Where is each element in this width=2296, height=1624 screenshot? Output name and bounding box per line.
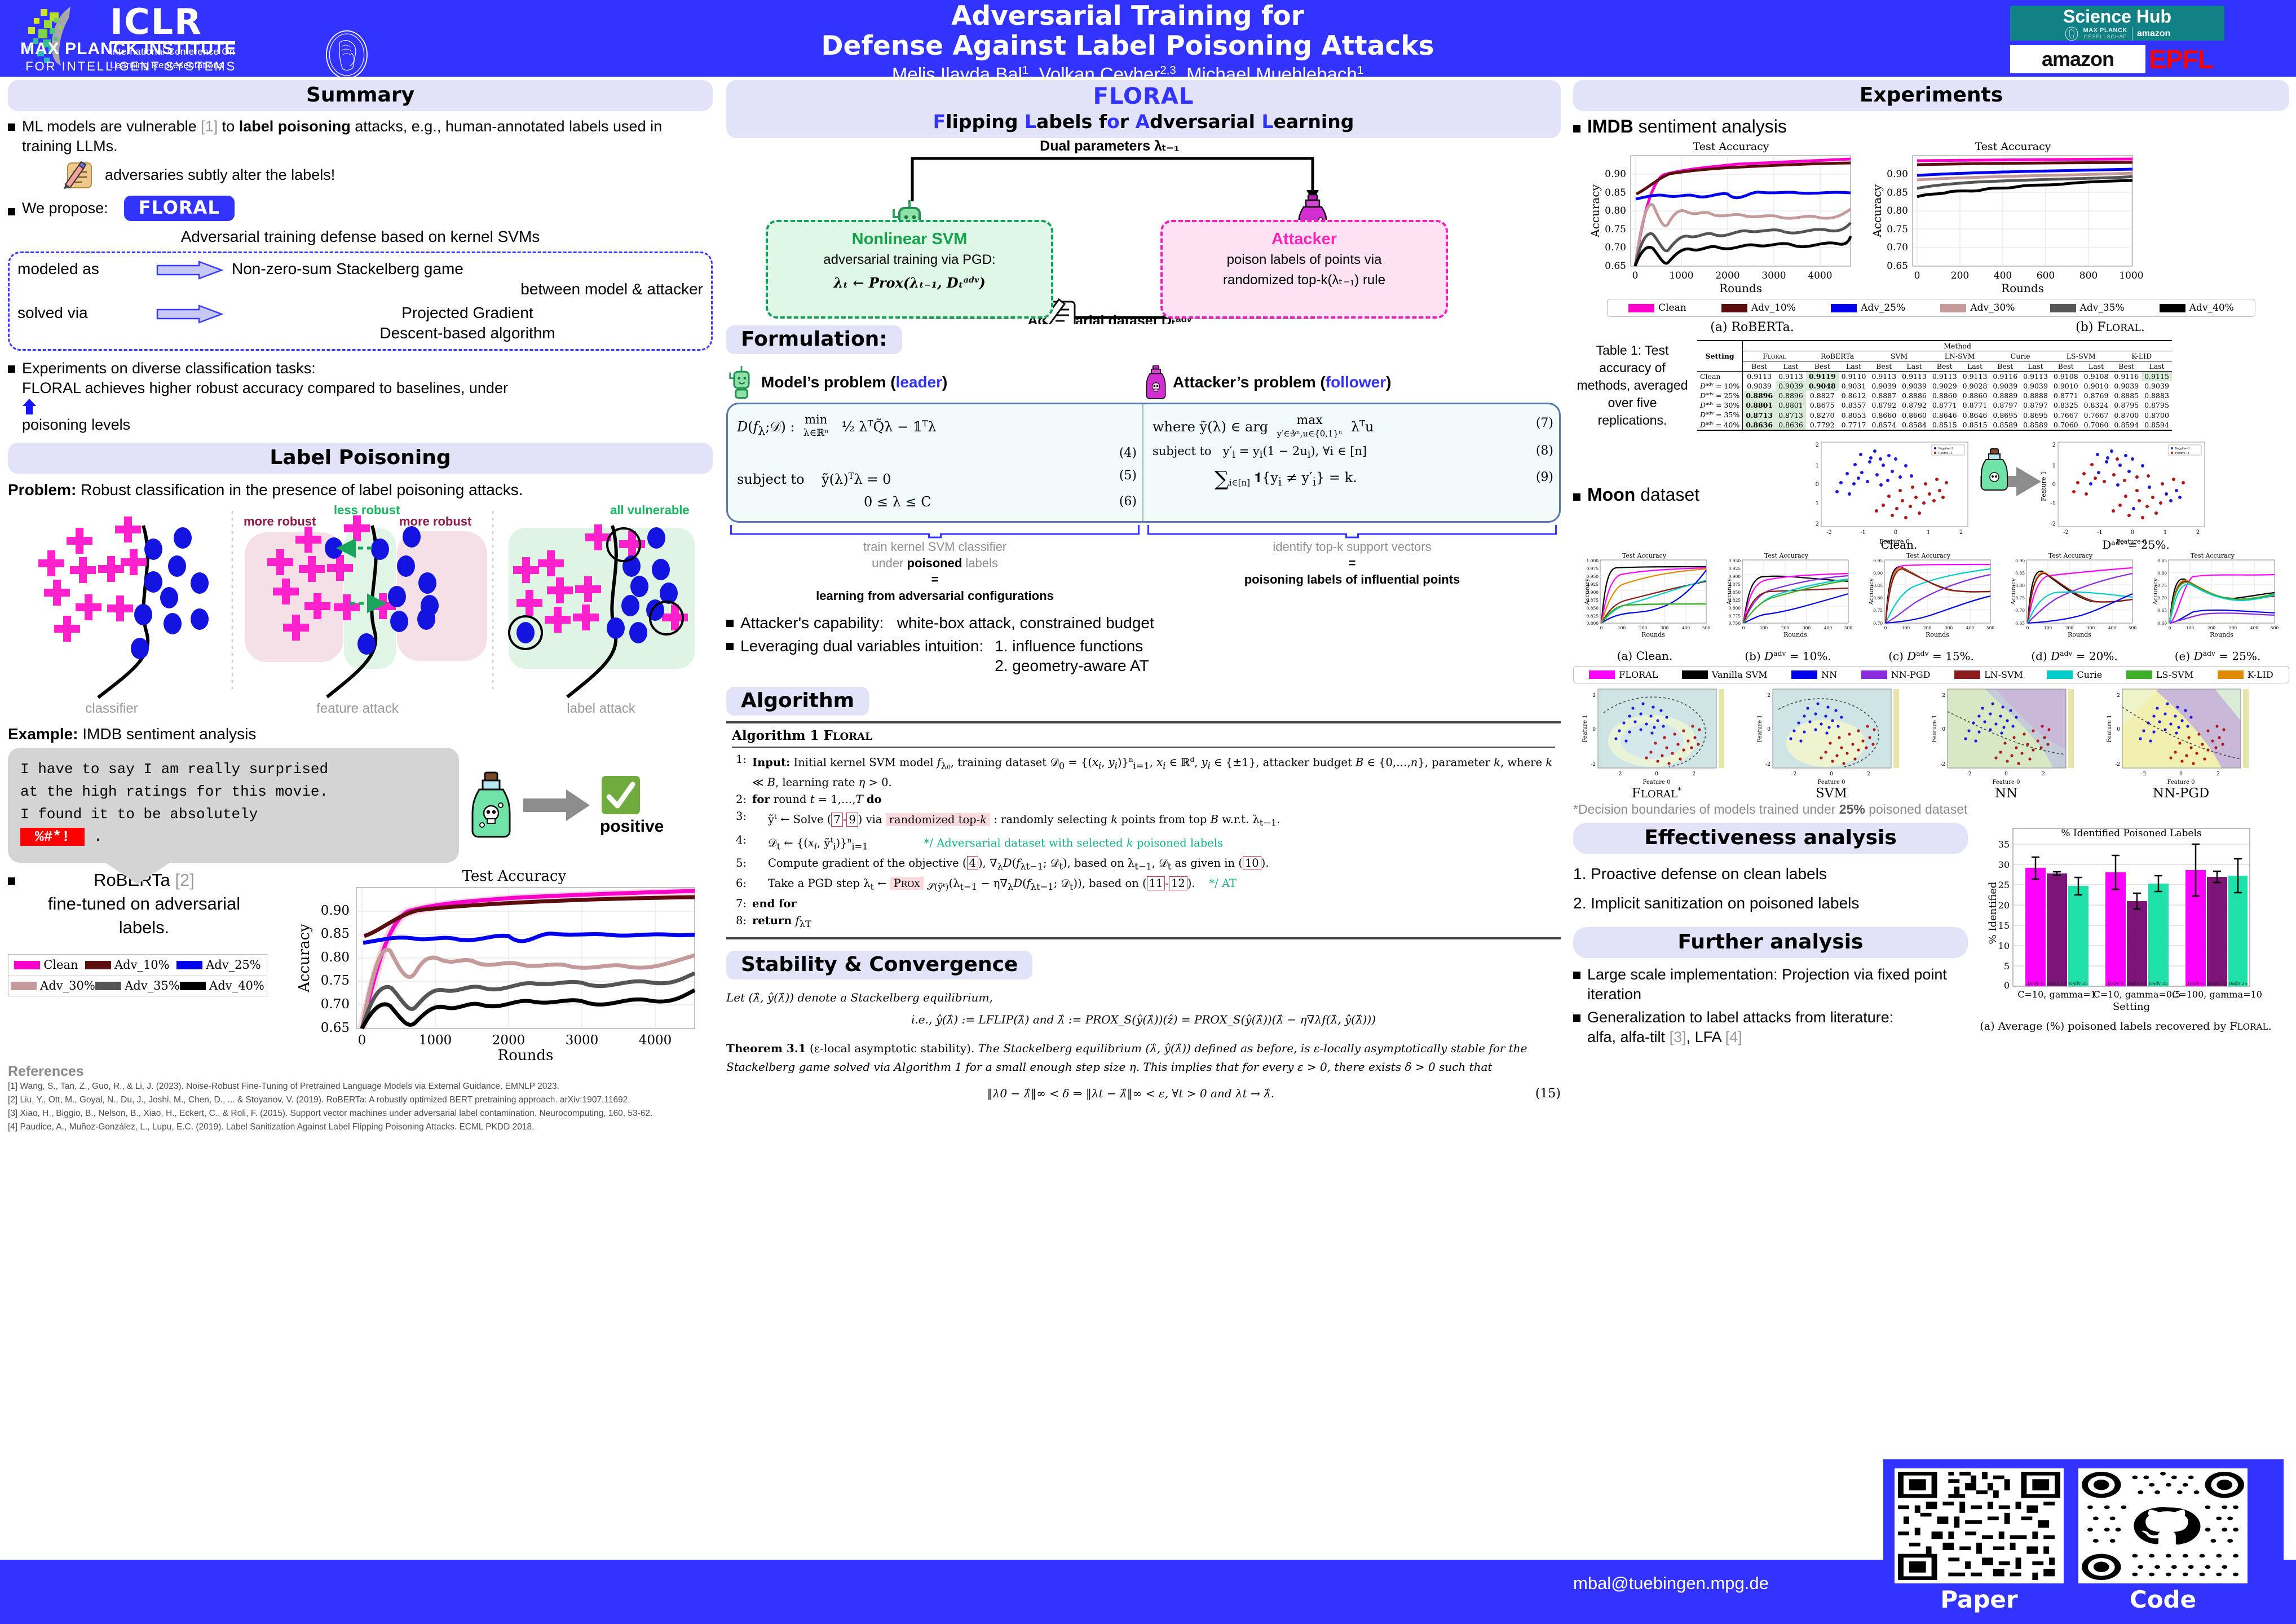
attacker-problem-header: Attacker’s problem (follower) — [1143, 365, 1561, 399]
right-arrow-icon — [156, 261, 223, 280]
sh-amazon-text: amazon — [2137, 29, 2171, 39]
svg-text:Feature 0: Feature 0 — [1818, 779, 1845, 785]
qr-panel: Paper — [1883, 1459, 2284, 1624]
imdb-rest: sentiment analysis — [1633, 116, 1787, 136]
svg-text:0: 0 — [1894, 529, 1897, 536]
attacker-node-body-2: randomized top-k(λₜ₋₁) rule — [1163, 271, 1446, 289]
svg-text:-2: -2 — [2142, 771, 2147, 777]
svg-text:4000: 4000 — [1808, 270, 1832, 281]
moon-clean-caption: Clean. — [1881, 538, 1918, 550]
summary-tagline: Adversarial training defense based on ke… — [8, 228, 713, 246]
mpi-wordmark: MAX PLANCK INSTITUTE FOR INTELLIGENT SYS… — [20, 39, 236, 74]
svg-text:20: 20 — [1998, 900, 2010, 911]
quote-line-2: at the high ratings for this movie. — [20, 780, 447, 803]
svg-text:% Identified: % Identified — [1987, 882, 1999, 945]
svg-text:0: 0 — [2131, 529, 2134, 536]
svg-text:label attack: label attack — [567, 701, 635, 716]
boundary-footnote-a: *Decision boundaries of models trained u… — [1573, 802, 1839, 817]
svg-text:Feature 1: Feature 1 — [1757, 715, 1763, 743]
svg-text:0: 0 — [2117, 727, 2120, 732]
dual-variables-bullet: Leveraging dual variables intuition: 1. … — [726, 636, 1561, 676]
qr-paper-wrap[interactable]: Paper — [1895, 1468, 2064, 1624]
svg-text:0.90: 0.90 — [1605, 169, 1626, 180]
svg-text:classifier: classifier — [85, 701, 138, 716]
svg-text:Feature 1: Feature 1 — [2040, 471, 2047, 501]
roberta-bullet-2: fine-tuned on adversarial labels. — [48, 894, 240, 937]
svg-text:Negative -1: Negative -1 — [1939, 447, 1953, 451]
svg-text:SVM: SVM — [1816, 786, 1847, 800]
svg-text:0.90: 0.90 — [1887, 169, 1908, 180]
svg-text:0: 0 — [1592, 727, 1596, 732]
solved-value-2: Descent-based algorithm — [379, 324, 555, 342]
sh-maxplanck-text: MAX PLANCKGESELLSCHAF — [2083, 28, 2127, 40]
svg-text:0.65: 0.65 — [321, 1021, 350, 1035]
moon-plot-25: Test Accuracy 0.850.80 0.750.70 0.650.60… — [2153, 552, 2279, 638]
modeled-value-2: between model & attacker — [232, 279, 703, 299]
modeled-value-1: Non-zero-sum Stackelberg game — [232, 260, 463, 277]
poison-bottle-icon — [1143, 365, 1168, 399]
moon-subcap-e: (e) Dadv = 25%. — [2146, 649, 2289, 663]
boundary-floral: 20-2 -202 Feature 0 Feature 1 FLORAL* — [1582, 689, 1724, 800]
svg-text:0: 0 — [1655, 771, 1658, 777]
svg-text:0: 0 — [1914, 270, 1920, 281]
equation-6: 0 ≤ λ ≤ C(6) — [737, 491, 1137, 513]
svg-text:0.90: 0.90 — [2015, 558, 2025, 563]
svg-text:-2: -2 — [1591, 762, 1596, 767]
svg-text:2: 2 — [1692, 771, 1695, 777]
svg-text:2000: 2000 — [1715, 270, 1739, 281]
bullet-square-icon — [8, 208, 15, 215]
attacker-node: Attacker poison labels of points via ran… — [1160, 220, 1448, 319]
svg-text:400: 400 — [1824, 625, 1833, 630]
svg-text:Rounds: Rounds — [1641, 631, 1665, 638]
svg-text:0.75: 0.75 — [1887, 224, 1908, 235]
svg-text:3000: 3000 — [566, 1033, 599, 1048]
svg-text:2: 2 — [1867, 771, 1870, 777]
algorithm-line: 7:end for — [732, 895, 1555, 912]
row-setting: Dadv = 40% — [1697, 420, 1743, 430]
moon-scatter-clean: Negative -1 Positive +1 21 0-1-2 -2-1 01… — [1816, 442, 1968, 545]
moon-subcap-a: (a) Clean. — [1573, 649, 1716, 663]
boundary-nn-pgd: 20-2 -202 Feature 0 Feature 1 NN-PGD — [2107, 689, 2249, 800]
poison-bottle-icon — [468, 771, 514, 839]
svg-text:400: 400 — [1966, 625, 1975, 630]
svg-text:0.775: 0.775 — [1729, 614, 1741, 619]
svg-text:Feature 0: Feature 0 — [2167, 779, 2195, 785]
svg-text:Feature 1: Feature 1 — [1932, 715, 1938, 743]
svg-text:300: 300 — [1661, 625, 1669, 630]
svg-text:Test Accuracy: Test Accuracy — [2191, 552, 2235, 559]
panel-label-attack: all vulnerable label attack — [509, 503, 695, 716]
svg-text:Accuracy: Accuracy — [2011, 578, 2017, 605]
left-column: Summary ML models are vulnerable [1] to … — [8, 80, 713, 1134]
svg-text:Feature 1: Feature 1 — [2107, 715, 2113, 743]
svg-text:100: 100 — [1618, 625, 1626, 630]
boundary-footnote-c: poisoned dataset — [1865, 802, 1968, 817]
page-title-line-2: Defense Against Label Poisoning Attacks — [592, 31, 1663, 61]
problem-label: Problem: — [8, 481, 76, 498]
svg-text:0.850: 0.850 — [1587, 606, 1599, 611]
section-heading-algorithm: Algorithm — [726, 687, 869, 716]
svg-text:C=10, gamma=0.5: C=10, gamma=0.5 — [2094, 989, 2181, 1000]
svg-text:1000: 1000 — [419, 1033, 452, 1048]
middle-column: FLORAL Flipping Labels for Adversarial L… — [726, 80, 1561, 1103]
modeled-as-label: modeled as — [17, 259, 147, 279]
svg-text:Dadv 25: Dadv 25 — [2069, 981, 2088, 986]
svg-text:0.975: 0.975 — [1587, 566, 1599, 571]
table-1-results: Setting Method FLORAL RoBERTa SVM LN-SVM… — [1697, 340, 2172, 431]
robot-icon — [726, 366, 757, 399]
svg-text:200: 200 — [2065, 625, 2074, 630]
row-setting: Dadv = 30% — [1697, 400, 1743, 410]
iclr-logo: ICLR International Conference On Learnin… — [17, 5, 299, 73]
quote-line-1: I have to say I am really surprised — [20, 758, 447, 780]
svg-text:0: 0 — [1830, 771, 1833, 777]
dual-variables-item-1: 1. influence functions — [995, 637, 1143, 655]
svg-text:0.80: 0.80 — [1887, 205, 1908, 217]
moon-subcap-b: (b) Dadv = 10%. — [1716, 649, 1860, 663]
svg-text:0.95: 0.95 — [1873, 558, 1883, 563]
svg-text:more robust: more robust — [399, 514, 472, 528]
floral-cycle-diagram: Dual parameters λₜ₋₁ Adversarial dataset… — [726, 138, 1561, 324]
svg-text:500: 500 — [1844, 625, 1853, 630]
theorem-paren: (ε-local asymptotic stability). — [810, 1042, 974, 1055]
method-header: FLORAL — [1743, 351, 1806, 361]
svg-text:Accuracy: Accuracy — [2153, 578, 2159, 605]
svg-text:2: 2 — [2196, 529, 2200, 536]
up-arrow-icon — [22, 398, 37, 415]
svg-text:Rounds: Rounds — [1926, 631, 1949, 638]
poison-bottle-icon — [1980, 449, 2041, 496]
effectiveness-item: 2. Implicit sanitization on poisoned lab… — [1573, 889, 1968, 918]
svg-text:less robust: less robust — [334, 503, 400, 517]
svg-text:600: 600 — [2037, 270, 2055, 281]
svg-text:Accuracy: Accuracy — [1588, 184, 1602, 237]
svg-text:0: 0 — [2004, 980, 2010, 991]
moon-subcap-d: (d) Dadv = 20%. — [2003, 649, 2146, 663]
right-column: Experiments IMDB sentiment analysis Test… — [1573, 80, 2289, 1051]
svg-text:-1: -1 — [2097, 529, 2103, 536]
floral-acronym: FLORAL — [726, 83, 1561, 109]
model-problem-label: Model’s problem (leader) — [761, 373, 947, 391]
bullet-square-icon — [1573, 972, 1580, 979]
svg-text:2: 2 — [1767, 693, 1770, 699]
svg-text:200: 200 — [1639, 625, 1648, 630]
svg-text:300: 300 — [1803, 625, 1811, 630]
svg-text:100: 100 — [2186, 625, 2195, 630]
svg-text:0: 0 — [2169, 625, 2171, 630]
floral-expansion: Flipping Labels for Adversarial Learning — [726, 111, 1561, 133]
svg-text:-2: -2 — [1816, 521, 1819, 527]
svg-text:0.60: 0.60 — [2157, 621, 2167, 626]
svg-text:1000: 1000 — [1669, 270, 1693, 281]
svg-text:0.85: 0.85 — [321, 926, 350, 941]
decision-boundary-row: 20-2 -202 Feature 0 Feature 1 FLORAL* 20… — [1573, 687, 2289, 800]
svg-text:2: 2 — [1959, 529, 1963, 536]
sentiment-label: positive — [600, 817, 664, 836]
svg-text:0: 0 — [1767, 727, 1770, 732]
svg-text:-2: -2 — [2050, 521, 2056, 527]
attacker-node-title: Attacker — [1163, 230, 1446, 249]
svg-text:Rounds: Rounds — [1783, 631, 1807, 638]
qr-code-code[interactable] — [2078, 1468, 2248, 1583]
svg-text:2000: 2000 — [492, 1033, 526, 1048]
imdb-label: IMDB — [1587, 116, 1633, 136]
svg-text:0.70: 0.70 — [1887, 242, 1908, 253]
bullet-square-icon — [8, 877, 15, 885]
panel-feature-attack: more robust less robust more robust feat… — [244, 503, 487, 716]
section-heading-further: Further analysis — [1573, 927, 1968, 958]
table-row: Clean 0.91130.9113 0.91190.9110 0.91130.… — [1697, 372, 2172, 382]
quote-period: . — [94, 828, 103, 845]
svg-text:0.70: 0.70 — [1605, 242, 1626, 253]
boundary-nn: 20-2 -202 Feature 0 Feature 1 NN — [1932, 689, 2074, 800]
attacker-problem-label: Attacker’s problem (follower) — [1173, 373, 1391, 391]
moon-subcaptions-row: (a) Clean. (b) Dadv = 10%. (c) Dadv = 15… — [1573, 649, 2289, 663]
svg-text:Dadv 10: Dadv 10 — [2207, 981, 2227, 986]
row-setting: Dadv = 10% — [1697, 381, 1743, 391]
approach-modeled-row: modeled as Non-zero-sum Stackelberg game… — [17, 259, 703, 299]
algorithm-line: 1:Input: Initial kernel SVM model fλ₀, t… — [732, 751, 1555, 791]
reference-item: [1] Wang, S., Tan, Z., Guo, R., & Li, J.… — [8, 1080, 713, 1093]
svm-node-equation: λₜ ← Prox(λₜ₋₁, Dₜadv) — [768, 271, 1051, 292]
svg-text:2: 2 — [2117, 693, 2120, 699]
chart-imdb-floral: Test Accuracy 0.650.70 0.750.80 — [1866, 140, 2143, 298]
moon-plot-clean: Test Accuracy 1.0000.975 0.9500.925 0.90… — [1584, 552, 1710, 638]
poster-header: ICLR International Conference On Learnin… — [0, 0, 2296, 77]
svg-text:Dadv 10: Dadv 10 — [2127, 981, 2147, 986]
bullet-square-icon — [1573, 125, 1580, 133]
svg-text:Test Accuracy: Test Accuracy — [1622, 552, 1667, 559]
approach-box: modeled as Non-zero-sum Stackelberg game… — [8, 251, 713, 351]
qr-paper-code[interactable] — [1895, 1468, 2064, 1583]
qr-code-wrap[interactable]: Code — [2078, 1468, 2248, 1624]
qr-paper-icon — [1898, 1472, 2060, 1580]
svg-text:-2: -2 — [1765, 762, 1770, 767]
svg-text:Accuracy: Accuracy — [1870, 184, 1884, 237]
boundary-footnote: *Decision boundaries of models trained u… — [1573, 802, 2289, 817]
svg-text:-2: -2 — [1967, 771, 1972, 777]
floral-badge: FLORAL — [124, 196, 235, 221]
svg-text:C=10, gamma=1: C=10, gamma=1 — [2017, 989, 2096, 1000]
svm-node-title: Nonlinear SVM — [768, 230, 1051, 249]
example-label: Example: — [8, 725, 78, 743]
effectiveness-list: 1. Proactive defense on clean labels 2. … — [1573, 859, 1968, 918]
svg-text:Dadv 10: Dadv 10 — [2047, 981, 2067, 986]
svg-text:0: 0 — [1632, 270, 1639, 281]
algorithm-title: Algorithm 1 FLORAL — [732, 728, 1555, 748]
svg-text:10: 10 — [1998, 941, 2010, 951]
equation-5: subject to ỹ(λ)Tλ = 0(5) — [737, 465, 1137, 491]
moon-label: Moon — [1587, 484, 1635, 505]
svg-text:0: 0 — [1816, 482, 1819, 488]
chart-identified-poisoned-labels: % Identified Poisoned Labels — [1973, 823, 2267, 1026]
moon-subcap-c: (c) Dadv = 15%. — [1860, 649, 2003, 663]
max-planck-seal-small-icon — [2064, 27, 2079, 41]
grey-arrow-icon — [523, 788, 591, 822]
svg-text:300: 300 — [2087, 625, 2095, 630]
further-bullet-1-text: Large scale implementation: Projection v… — [1587, 965, 1968, 1004]
svg-text:Feature 0: Feature 0 — [1993, 779, 2020, 785]
svg-text:100: 100 — [2044, 625, 2052, 630]
equation-4: D(fλ;𝒟) : minλ∈ℝⁿ ½ λTQ̃λ − 𝟙Tλ — [737, 412, 1137, 442]
svg-text:500: 500 — [2129, 625, 2137, 630]
summary-note-text: adversaries subtly alter the labels! — [105, 166, 335, 184]
science-hub-title: Science Hub — [2010, 6, 2224, 26]
formulation-equations-panel: D(fλ;𝒟) : minλ∈ℝⁿ ½ λTQ̃λ − 𝟙Tλ (4) subj… — [726, 403, 1561, 523]
solved-value-1: Projected Gradient — [401, 304, 533, 321]
svg-text:feature attack: feature attack — [316, 701, 399, 716]
svg-text:Test Accuracy: Test Accuracy — [1764, 552, 1809, 559]
sponsor-logos: amazon EPFL — [2010, 44, 2213, 74]
svg-text:FLORAL*: FLORAL* — [1632, 786, 1681, 800]
bullet-square-icon — [8, 123, 15, 131]
svg-text:1: 1 — [1816, 463, 1819, 469]
svg-text:1: 1 — [1927, 529, 1930, 536]
attacker-capability-value: white-box attack, constrained budget — [897, 614, 1154, 632]
equation-7: where ỹ(λ) ∈ arg maxy′∈𝒴ⁿ,u∈{0,1}ⁿ λTu(7… — [1153, 412, 1553, 440]
bullet-square-icon — [1573, 493, 1580, 501]
summary-bullet-2: We propose: FLORAL — [8, 196, 713, 221]
section-heading-summary: Summary — [8, 80, 713, 111]
svg-text:200: 200 — [1781, 625, 1790, 630]
algorithm-box: Algorithm 1 FLORAL 1:Input: Initial kern… — [726, 721, 1561, 939]
epfl-logo: EPFL — [2149, 44, 2213, 74]
summary-propose-label: We propose: — [22, 198, 108, 218]
svg-text:15: 15 — [1998, 920, 2010, 931]
svg-text:0: 0 — [2004, 771, 2008, 777]
model-problem-header: Model’s problem (leader) — [726, 365, 1143, 399]
algorithm-line: 5:Compute gradient of the objective (4),… — [732, 855, 1555, 875]
algorithm-line: 8:return fλT — [732, 912, 1555, 933]
stability-line-1: Let (λ̂, ŷ(λ̂)) denote a Stackelberg equ… — [726, 988, 1561, 1007]
chart-imdb-roberta: Test Accuracy 0.650.70 0.750.80 — [1584, 140, 1861, 298]
brace-left-icon — [726, 524, 1143, 539]
example-line: Example: IMDB sentiment analysis — [8, 725, 713, 743]
green-check-icon — [600, 774, 642, 819]
qr-github-icon — [2082, 1472, 2244, 1580]
qr-code-label: Code — [2078, 1586, 2248, 1613]
qr-paper-label: Paper — [1895, 1586, 2064, 1613]
bar-chart-caption: (a) Average (%) poisoned labels recovere… — [1973, 1020, 2278, 1032]
svg-text:Dadv 25: Dadv 25 — [2228, 981, 2248, 986]
summary-bullet-3: Experiments on diverse classification ta… — [8, 359, 713, 435]
svg-text:300: 300 — [2229, 625, 2237, 630]
imdb-bullet: IMDB sentiment analysis — [1573, 117, 2289, 136]
references-list: [1] Wang, S., Tan, Z., Guo, R., & Li, J.… — [8, 1080, 713, 1134]
caption-right-1: identify top-k support vectors — [1273, 540, 1431, 554]
svg-text:% Identified Poisoned Labels: % Identified Poisoned Labels — [2061, 828, 2201, 839]
summary-bullet-3-line2: FLORAL achieves higher robust accuracy c… — [22, 379, 508, 396]
svg-text:30: 30 — [1998, 859, 2010, 870]
panel-classifier: classifier — [38, 517, 209, 716]
svg-text:2: 2 — [2216, 771, 2220, 777]
moon-plot-15: Test Accuracy 0.950.90 0.850.80 0.750.70… — [1869, 552, 1994, 638]
mpi-line-2: FOR INTELLIGENT SYSTEMS — [20, 59, 236, 74]
svg-text:-1: -1 — [2050, 501, 2056, 507]
svg-text:4000: 4000 — [639, 1033, 672, 1048]
table-row: Dadv = 25% 0.88960.8896 0.88270.8612 0.8… — [1697, 391, 2172, 400]
svg-text:1: 1 — [2052, 463, 2056, 469]
attacker-node-body-1: poison labels of points via — [1163, 251, 1446, 269]
table-row: Dadv = 30% 0.88010.8801 0.86750.8357 0.8… — [1697, 400, 2172, 410]
moon-scatter-pair: Negative -1 Positive +1 21 0-1-2 -2-1 01… — [1816, 440, 2278, 550]
algorithm-line: 2:for round t = 1,…,T do — [732, 791, 1555, 808]
svg-text:500: 500 — [1702, 625, 1711, 630]
svg-text:0.750: 0.750 — [1729, 621, 1741, 626]
svg-text:200: 200 — [2207, 625, 2216, 630]
svg-text:0: 0 — [1600, 625, 1603, 630]
svg-text:100: 100 — [1902, 625, 1910, 630]
boundary-svm: 20-2 -202 Feature 0 Feature 1 SVM — [1757, 689, 1899, 800]
svg-text:0.85: 0.85 — [1605, 187, 1626, 198]
table-row: Dadv = 40% 0.86360.8636 0.77920.7717 0.8… — [1697, 420, 2172, 430]
further-bullet-2-methods: alfa, alfa-tilt — [1587, 1029, 1670, 1045]
svg-text:0.800: 0.800 — [1587, 621, 1599, 626]
moon-plot-10: Test Accuracy 0.9500.925 0.9000.875 0.85… — [1727, 552, 1852, 638]
svg-text:Rounds: Rounds — [1719, 281, 1762, 295]
svg-text:Test Accuracy: Test Accuracy — [1693, 140, 1769, 153]
svg-text:2: 2 — [1816, 442, 1819, 448]
svg-text:-2: -2 — [1826, 529, 1832, 536]
svm-node-body: adversarial training via PGD: — [768, 251, 1051, 269]
svg-text:Feature 1: Feature 1 — [1582, 715, 1588, 743]
theorem-label: Theorem 3.1 — [726, 1042, 806, 1055]
svg-text:0.80: 0.80 — [321, 950, 350, 965]
approach-solved-row: solved via Projected Gradient Descent-ba… — [17, 303, 703, 343]
chart-legend-methods: FLORAL Vanilla SVM NN NN-PGD LN-SVM Curi… — [1573, 666, 2289, 683]
svg-text:1: 1 — [2163, 529, 2167, 536]
svg-text:Accuracy: Accuracy — [1584, 578, 1591, 605]
svg-text:Rounds: Rounds — [2210, 631, 2233, 638]
svg-text:1.000: 1.000 — [1587, 558, 1599, 563]
further-bullet-1: Large scale implementation: Projection v… — [1573, 965, 1968, 1004]
table-row: Dadv = 10% 0.90390.9039 0.90480.9031 0.9… — [1697, 381, 2172, 391]
svg-text:5: 5 — [2004, 961, 2010, 972]
svg-text:Test Accuracy: Test Accuracy — [462, 868, 567, 885]
attacker-capability-bullet: Attacker's capability: white-box attack,… — [726, 613, 1561, 633]
problem-statement: Problem: Robust classification in the pr… — [8, 479, 713, 501]
algorithm-line: 3:ỹt ← Solve (7-9) via randomized top-k … — [732, 808, 1555, 831]
imdb-review-quote: I have to say I am really surprised at t… — [8, 748, 459, 863]
formulation-caption-left: train kernel SVM classifier under poison… — [726, 524, 1143, 604]
svg-text:0.85: 0.85 — [2015, 571, 2025, 576]
svg-text:25: 25 — [1998, 880, 2010, 890]
speech-bubble-tail — [104, 862, 171, 884]
moon-accuracy-plots-row: Test Accuracy 1.0000.975 0.9500.925 0.90… — [1573, 552, 2289, 648]
svg-text:Negative -1: Negative -1 — [2175, 447, 2190, 451]
moon-plot-20: Test Accuracy 0.900.85 0.800.75 0.700.65… — [2011, 552, 2136, 638]
dual-variables-label: Leveraging dual variables intuition: — [740, 636, 983, 676]
dual-parameters-label: Dual parameters λₜ₋₁ — [1040, 138, 1180, 154]
svg-text:0.825: 0.825 — [1587, 614, 1599, 619]
solved-via-label: solved via — [17, 303, 147, 323]
svg-text:0.80: 0.80 — [2157, 571, 2167, 576]
svg-text:0.65: 0.65 — [1605, 261, 1626, 272]
svg-text:0.75: 0.75 — [321, 973, 350, 988]
svg-text:Rounds: Rounds — [498, 1047, 554, 1060]
table-row: Dadv = 35% 0.87130.8713 0.82700.8053 0.8… — [1697, 410, 2172, 420]
svg-text:400: 400 — [1994, 270, 2012, 281]
svg-text:Dadv 5: Dadv 5 — [2188, 981, 2204, 986]
caption-left-1: train kernel SVM classifier — [863, 540, 1006, 554]
section-heading-formulation: Formulation: — [726, 325, 902, 354]
svg-text:200: 200 — [1923, 625, 1932, 630]
mpi-line-1: MAX PLANCK INSTITUTE — [20, 39, 236, 59]
svg-text:Accuracy: Accuracy — [1869, 578, 1875, 605]
stability-line-2: i.e., ŷ(λ̂) := LFLIP(λ̂) and λ̂ := PROX_… — [726, 1010, 1561, 1029]
svg-text:Test Accuracy: Test Accuracy — [1906, 552, 1951, 559]
